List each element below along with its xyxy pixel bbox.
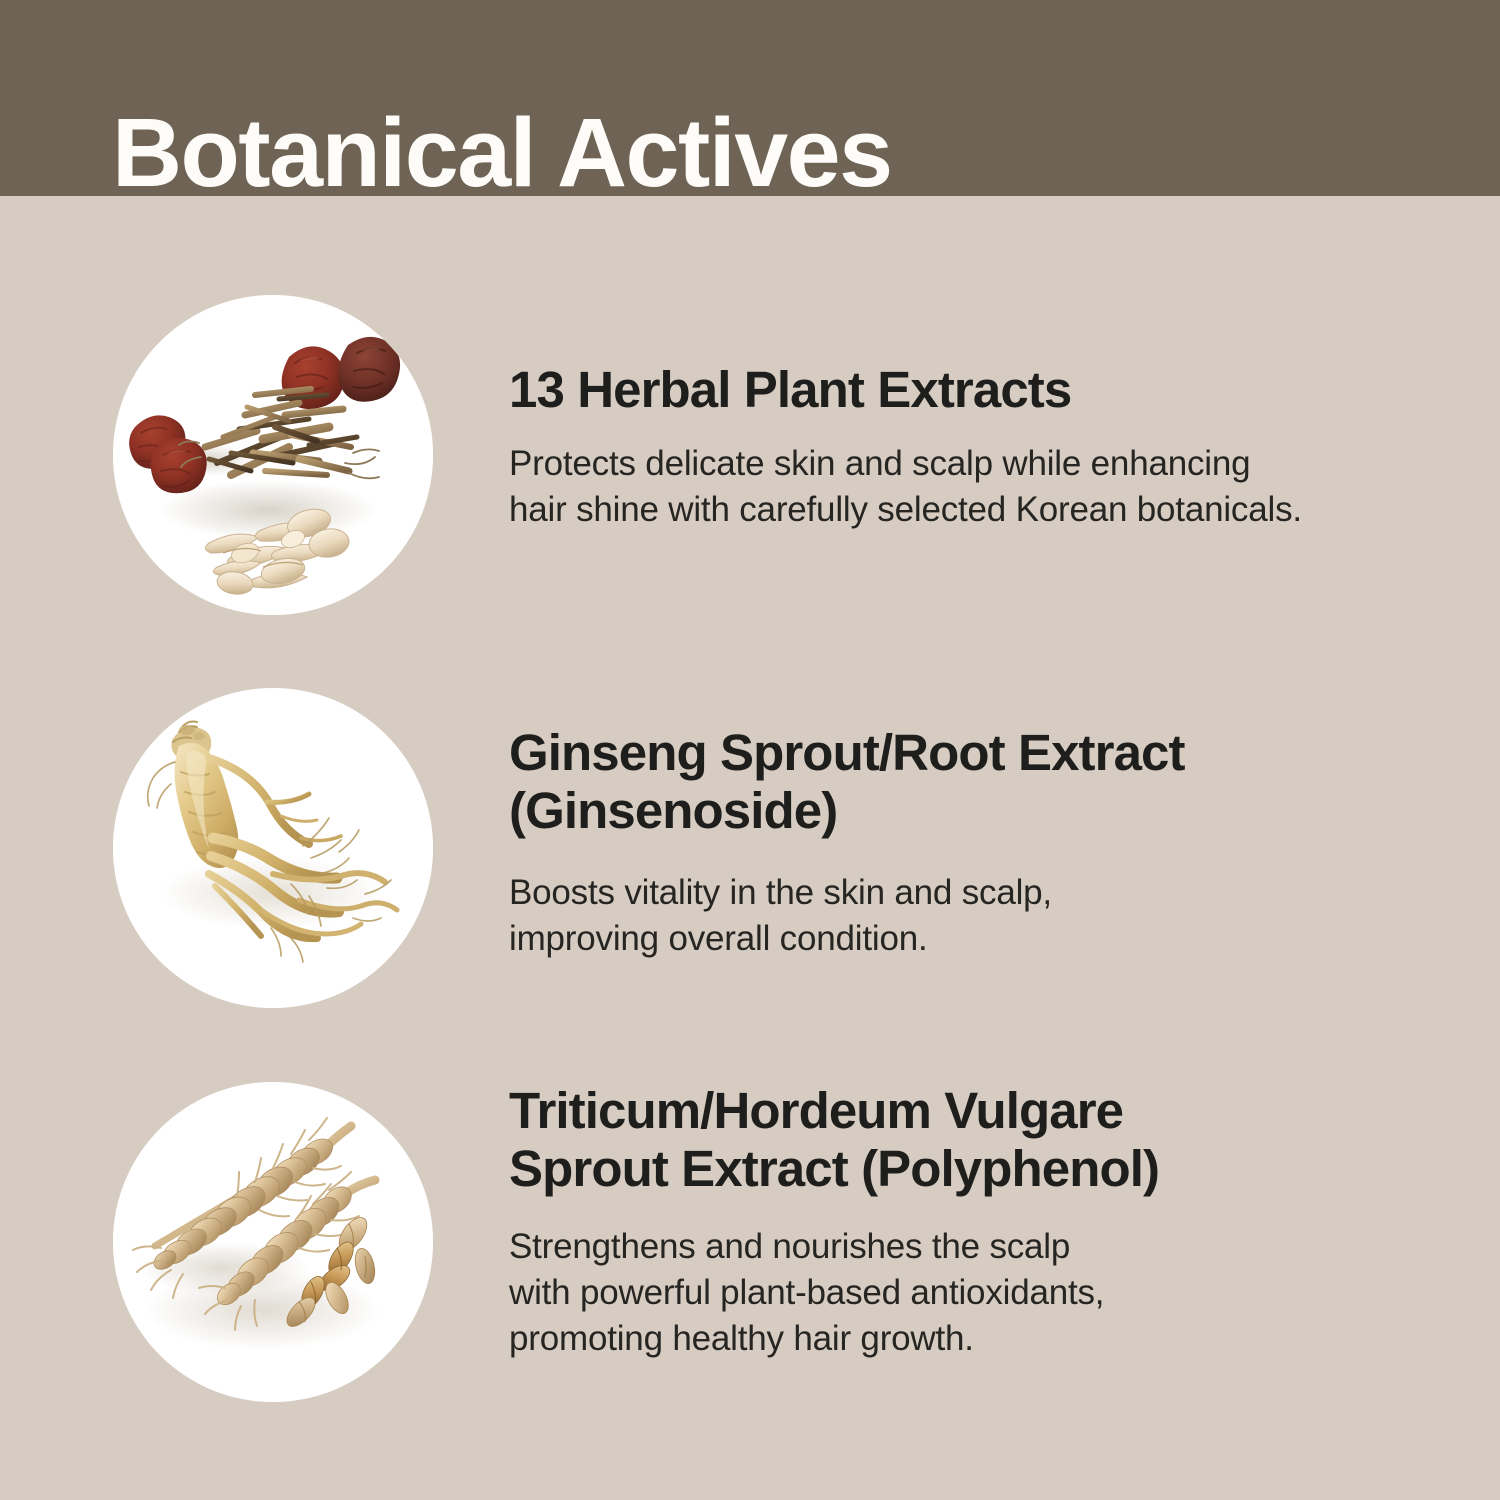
feature-title: Ginseng Sprout/Root Extract (Ginsenoside… — [509, 724, 1429, 840]
feature-description: Boosts vitality in the skin and scalp, i… — [509, 870, 1429, 962]
wheat-barley-sprout-photo — [113, 1082, 433, 1402]
feature-description: Strengthens and nourishes the scalp with… — [509, 1224, 1429, 1362]
dried-herbs-jujube-photo — [113, 295, 433, 615]
feature-description: Protects delicate skin and scalp while e… — [509, 441, 1429, 533]
page-header: Botanical Actives — [0, 0, 1500, 196]
feature-copy: Ginseng Sprout/Root Extract (Ginsenoside… — [509, 724, 1429, 962]
feature-row-ginseng-extract: Ginseng Sprout/Root Extract (Ginsenoside… — [0, 688, 1500, 1033]
page-title: Botanical Actives — [112, 105, 892, 196]
feature-title: Triticum/Hordeum Vulgare Sprout Extract … — [509, 1082, 1429, 1198]
feature-copy: 13 Herbal Plant Extracts Protects delica… — [509, 361, 1429, 533]
feature-copy: Triticum/Hordeum Vulgare Sprout Extract … — [509, 1082, 1429, 1362]
ginseng-root-photo — [113, 688, 433, 1008]
feature-row-wheat-extract: Triticum/Hordeum Vulgare Sprout Extract … — [0, 1082, 1500, 1427]
feature-row-herbal-extracts: 13 Herbal Plant Extracts Protects delica… — [0, 295, 1500, 640]
feature-title: 13 Herbal Plant Extracts — [509, 361, 1429, 419]
